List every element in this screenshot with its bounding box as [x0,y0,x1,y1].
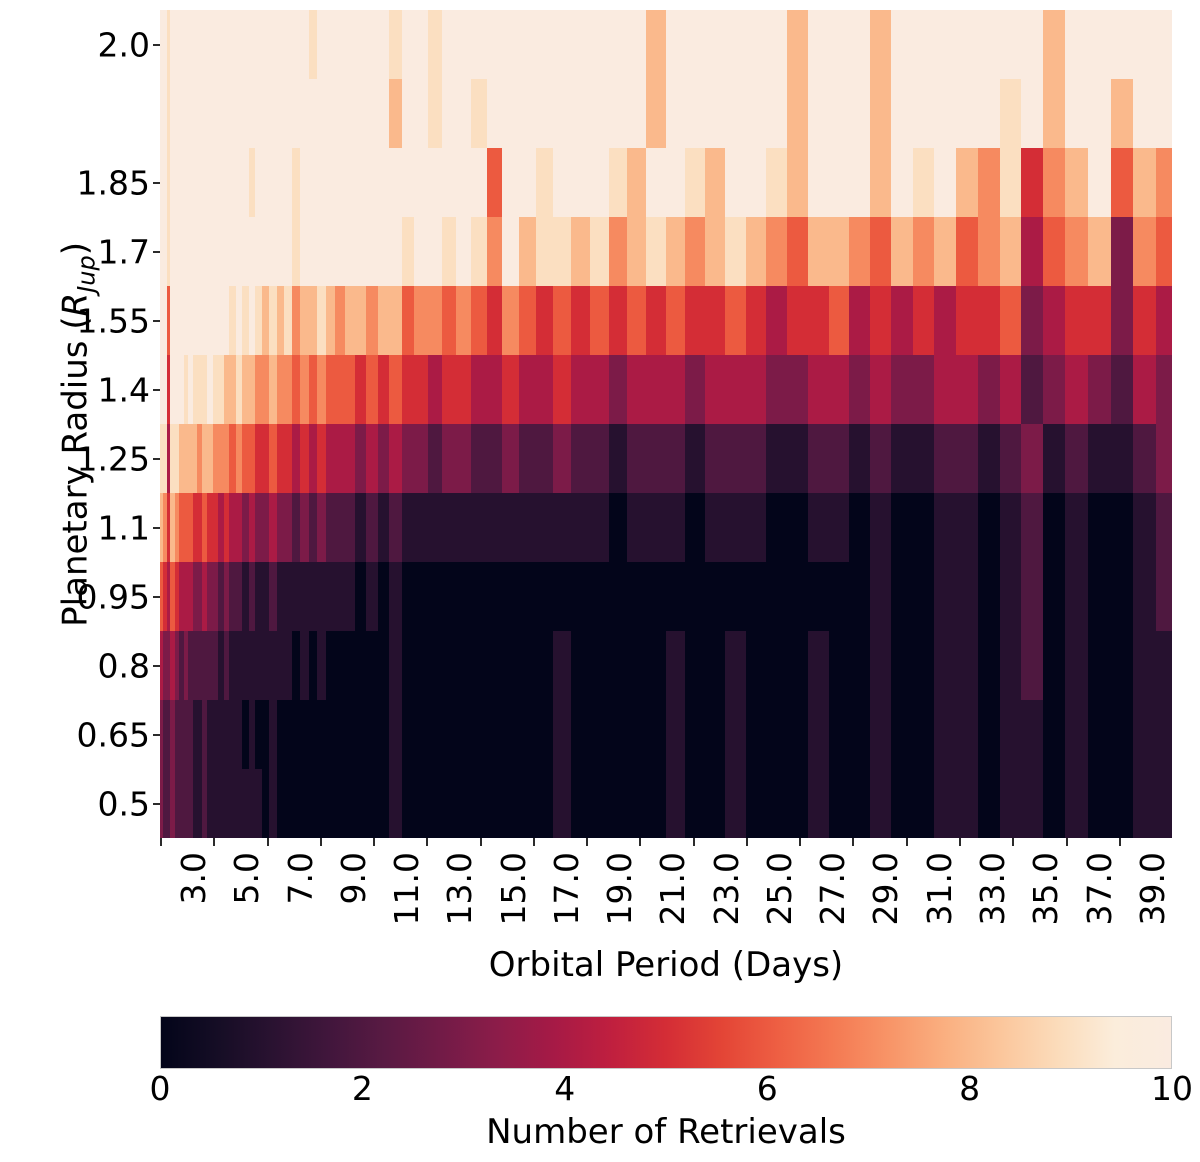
heatmap-cell[interactable] [1065,631,1088,701]
heatmap-cell[interactable] [829,493,850,563]
heatmap-cell[interactable] [571,769,590,838]
heatmap-cell[interactable] [627,769,646,838]
heatmap-cell[interactable] [284,286,292,356]
heatmap-cell[interactable] [536,424,554,494]
heatmap-cell[interactable] [300,217,309,287]
heatmap-cell[interactable] [646,631,666,701]
heatmap-cell[interactable] [1021,355,1043,425]
heatmap-cell[interactable] [808,217,829,287]
heatmap-cell[interactable] [590,79,609,149]
heatmap-cell[interactable] [1065,217,1088,287]
heatmap-cell[interactable] [335,148,345,218]
heatmap-cell[interactable] [536,286,554,356]
heatmap-cell[interactable] [913,424,935,494]
heatmap-cell[interactable] [934,355,956,425]
heatmap-cell[interactable] [1111,79,1134,149]
heatmap-cell[interactable] [326,562,336,632]
heatmap-cell[interactable] [1088,217,1111,287]
heatmap-cell[interactable] [519,355,536,425]
heatmap-cell[interactable] [646,79,666,149]
heatmap-cell[interactable] [487,355,503,425]
heatmap-cell[interactable] [345,700,356,770]
heatmap-cell[interactable] [269,562,277,632]
heatmap-cell[interactable] [1021,10,1043,80]
heatmap-cell[interactable] [519,79,536,149]
heatmap-cell[interactable] [519,286,536,356]
heatmap-cell[interactable] [1088,562,1111,632]
heatmap-cell[interactable] [849,217,870,287]
heatmap-cell[interactable] [627,493,646,563]
heatmap-cell[interactable] [1065,700,1088,770]
heatmap-cell[interactable] [956,286,978,356]
heatmap-cell[interactable] [428,769,442,838]
heatmap-cell[interactable] [471,79,487,149]
heatmap-cell[interactable] [705,79,725,149]
heatmap-cell[interactable] [345,631,356,701]
heatmap-cell[interactable] [705,148,725,218]
heatmap-cell[interactable] [471,562,487,632]
heatmap-cell[interactable] [502,631,519,701]
heatmap-cell[interactable] [705,493,725,563]
heatmap-cell[interactable] [934,217,956,287]
heatmap-cell[interactable] [355,562,366,632]
heatmap-cell[interactable] [1065,424,1088,494]
heatmap-cell[interactable] [402,631,415,701]
heatmap-cell[interactable] [355,286,366,356]
heatmap-cell[interactable] [787,562,808,632]
heatmap-cell[interactable] [934,769,956,838]
heatmap-cell[interactable] [829,217,850,287]
heatmap-cell[interactable] [519,217,536,287]
heatmap-cell[interactable] [1133,700,1156,770]
heatmap-cell[interactable] [536,10,554,80]
heatmap-cell[interactable] [571,10,590,80]
heatmap-cell[interactable] [1088,148,1111,218]
heatmap-cell[interactable] [378,286,390,356]
heatmap-cell[interactable] [646,217,666,287]
heatmap-cell[interactable] [502,79,519,149]
heatmap-cell[interactable] [1156,148,1172,218]
heatmap-cell[interactable] [471,769,487,838]
heatmap-cell[interactable] [571,217,590,287]
heatmap-cell[interactable] [317,424,326,494]
heatmap-cell[interactable] [725,217,746,287]
heatmap-cell[interactable] [746,493,767,563]
heatmap-cell[interactable] [571,631,590,701]
heatmap-cell[interactable] [277,148,285,218]
heatmap-cell[interactable] [1111,631,1134,701]
heatmap-cell[interactable] [456,148,471,218]
heatmap-cell[interactable] [1043,10,1065,80]
heatmap-cell[interactable] [277,769,285,838]
heatmap-cell[interactable] [590,769,609,838]
heatmap-cell[interactable] [590,355,609,425]
heatmap-cell[interactable] [389,562,402,632]
heatmap-cell[interactable] [666,79,686,149]
heatmap-cell[interactable] [1133,424,1156,494]
heatmap-cell[interactable] [1156,79,1172,149]
heatmap-cell[interactable] [891,769,913,838]
heatmap-cell[interactable] [870,562,891,632]
heatmap-cell[interactable] [1088,769,1111,838]
heatmap-cell[interactable] [345,148,356,218]
heatmap-cell[interactable] [787,355,808,425]
heatmap-cell[interactable] [277,217,285,287]
heatmap-cell[interactable] [456,493,471,563]
heatmap-cell[interactable] [978,424,1000,494]
heatmap-cell[interactable] [1088,493,1111,563]
heatmap-cell[interactable] [1133,493,1156,563]
heatmap-cell[interactable] [326,769,336,838]
heatmap-cell[interactable] [317,355,326,425]
heatmap-cell[interactable] [378,769,390,838]
heatmap-cell[interactable] [571,424,590,494]
heatmap-cell[interactable] [891,355,913,425]
heatmap-cell[interactable] [685,493,705,563]
heatmap-cell[interactable] [705,769,725,838]
heatmap-cell[interactable] [571,355,590,425]
heatmap-cell[interactable] [849,631,870,701]
heatmap-cell[interactable] [666,355,686,425]
heatmap-cell[interactable] [1021,562,1043,632]
heatmap-cell[interactable] [978,217,1000,287]
heatmap-cell[interactable] [1000,148,1022,218]
heatmap-cell[interactable] [766,10,787,80]
heatmap-cell[interactable] [609,424,628,494]
heatmap-cell[interactable] [746,424,767,494]
heatmap-cell[interactable] [326,217,336,287]
heatmap-cell[interactable] [456,217,471,287]
heatmap-cell[interactable] [808,79,829,149]
heatmap-cell[interactable] [766,79,787,149]
heatmap-cell[interactable] [536,355,554,425]
heatmap-cell[interactable] [571,79,590,149]
heatmap-cell[interactable] [277,424,285,494]
heatmap-cell[interactable] [978,286,1000,356]
heatmap-cell[interactable] [1043,493,1065,563]
heatmap-cell[interactable] [934,10,956,80]
heatmap-cell[interactable] [829,355,850,425]
heatmap-cell[interactable] [262,355,270,425]
heatmap-cell[interactable] [1111,700,1134,770]
heatmap-cell[interactable] [746,355,767,425]
heatmap-cell[interactable] [292,631,301,701]
heatmap-cell[interactable] [487,79,503,149]
heatmap-cell[interactable] [553,424,571,494]
heatmap-cell[interactable] [1156,493,1172,563]
heatmap-cell[interactable] [366,424,378,494]
heatmap-cell[interactable] [378,217,390,287]
heatmap-cell[interactable] [536,769,554,838]
heatmap-cell[interactable] [553,700,571,770]
heatmap-cell[interactable] [471,355,487,425]
heatmap-cell[interactable] [335,286,345,356]
heatmap-cell[interactable] [705,217,725,287]
heatmap-cell[interactable] [808,286,829,356]
heatmap-cell[interactable] [366,493,378,563]
heatmap-cell[interactable] [685,79,705,149]
heatmap-cell[interactable] [1111,424,1134,494]
heatmap-cell[interactable] [471,10,487,80]
heatmap-cell[interactable] [627,631,646,701]
heatmap-cell[interactable] [1021,148,1043,218]
heatmap-cell[interactable] [536,631,554,701]
heatmap-cell[interactable] [956,217,978,287]
heatmap-cell[interactable] [389,148,402,218]
heatmap-cell[interactable] [1156,700,1172,770]
heatmap-cell[interactable] [1000,424,1022,494]
heatmap-cell[interactable] [262,700,270,770]
heatmap-cell[interactable] [536,562,554,632]
heatmap-cell[interactable] [766,424,787,494]
heatmap-cell[interactable] [787,286,808,356]
heatmap-cell[interactable] [590,631,609,701]
heatmap-cell[interactable] [1133,79,1156,149]
heatmap-cell[interactable] [366,769,378,838]
heatmap-cell[interactable] [1021,700,1043,770]
heatmap-cell[interactable] [1043,217,1065,287]
heatmap-cell[interactable] [471,700,487,770]
heatmap-cell[interactable] [746,769,767,838]
heatmap-cell[interactable] [870,286,891,356]
heatmap-cell[interactable] [402,769,415,838]
heatmap-cell[interactable] [849,562,870,632]
heatmap-cell[interactable] [766,562,787,632]
heatmap-cell[interactable] [870,217,891,287]
heatmap-cell[interactable] [284,562,292,632]
heatmap-cell[interactable] [787,631,808,701]
heatmap-cell[interactable] [300,493,309,563]
heatmap-cell[interactable] [366,700,378,770]
heatmap-cell[interactable] [378,424,390,494]
heatmap-cell[interactable] [487,10,503,80]
heatmap-cell[interactable] [553,631,571,701]
heatmap-cell[interactable] [262,217,270,287]
heatmap-cell[interactable] [787,217,808,287]
heatmap-cell[interactable] [725,700,746,770]
heatmap-cell[interactable] [519,631,536,701]
heatmap-cell[interactable] [913,769,935,838]
heatmap-cell[interactable] [1000,562,1022,632]
heatmap-cell[interactable] [553,769,571,838]
heatmap-cell[interactable] [891,631,913,701]
heatmap-cell[interactable] [355,424,366,494]
heatmap-cell[interactable] [309,631,318,701]
heatmap-cell[interactable] [870,355,891,425]
heatmap-cell[interactable] [609,217,628,287]
heatmap-cell[interactable] [442,355,457,425]
heatmap-cell[interactable] [1088,79,1111,149]
heatmap-cell[interactable] [829,424,850,494]
heatmap-cell[interactable] [277,562,285,632]
heatmap-cell[interactable] [1111,10,1134,80]
heatmap-cell[interactable] [849,493,870,563]
heatmap-cell[interactable] [666,286,686,356]
heatmap-cell[interactable] [262,79,270,149]
heatmap-cell[interactable] [913,10,935,80]
heatmap-cell[interactable] [366,355,378,425]
heatmap-cell[interactable] [389,217,402,287]
heatmap-cell[interactable] [487,631,503,701]
heatmap-cell[interactable] [1065,79,1088,149]
heatmap-cell[interactable] [519,700,536,770]
heatmap-cell[interactable] [292,424,301,494]
heatmap-cell[interactable] [262,562,270,632]
heatmap-cell[interactable] [292,562,301,632]
heatmap-cell[interactable] [442,10,457,80]
heatmap-cell[interactable] [456,424,471,494]
heatmap-cell[interactable] [309,355,318,425]
heatmap-cell[interactable] [262,10,270,80]
heatmap-cell[interactable] [389,355,402,425]
heatmap-cell[interactable] [829,700,850,770]
heatmap-cell[interactable] [891,10,913,80]
heatmap-cell[interactable] [808,355,829,425]
heatmap-cell[interactable] [746,562,767,632]
heatmap-cell[interactable] [519,424,536,494]
heatmap-cell[interactable] [428,10,442,80]
heatmap-cell[interactable] [646,10,666,80]
heatmap-cell[interactable] [284,355,292,425]
heatmap-cell[interactable] [1000,769,1022,838]
heatmap-cell[interactable] [666,493,686,563]
heatmap-cell[interactable] [442,79,457,149]
heatmap-cell[interactable] [378,631,390,701]
heatmap-cell[interactable] [414,286,428,356]
heatmap-cell[interactable] [355,631,366,701]
heatmap-cell[interactable] [317,631,326,701]
heatmap-cell[interactable] [609,148,628,218]
heatmap-cell[interactable] [934,79,956,149]
heatmap-cell[interactable] [849,286,870,356]
heatmap-cell[interactable] [849,769,870,838]
heatmap-cell[interactable] [627,10,646,80]
heatmap-cell[interactable] [553,286,571,356]
heatmap-cell[interactable] [456,562,471,632]
heatmap-cell[interactable] [849,148,870,218]
heatmap-cell[interactable] [414,562,428,632]
heatmap-cell[interactable] [891,562,913,632]
heatmap-cell[interactable] [1065,148,1088,218]
heatmap-cell[interactable] [355,217,366,287]
heatmap-cell[interactable] [269,10,277,80]
heatmap-cell[interactable] [725,493,746,563]
heatmap-cell[interactable] [366,286,378,356]
heatmap-cell[interactable] [934,424,956,494]
heatmap-cell[interactable] [277,355,285,425]
heatmap-cell[interactable] [284,424,292,494]
heatmap-cell[interactable] [1043,631,1065,701]
heatmap-cell[interactable] [766,493,787,563]
heatmap-cell[interactable] [456,79,471,149]
heatmap-cell[interactable] [300,355,309,425]
heatmap-cell[interactable] [891,148,913,218]
heatmap-cell[interactable] [284,148,292,218]
heatmap-cell[interactable] [471,424,487,494]
heatmap-cell[interactable] [414,10,428,80]
heatmap-cell[interactable] [1111,493,1134,563]
heatmap-cell[interactable] [269,286,277,356]
heatmap-cell[interactable] [1156,562,1172,632]
heatmap-cell[interactable] [442,424,457,494]
heatmap-cell[interactable] [978,493,1000,563]
heatmap-cell[interactable] [1000,286,1022,356]
heatmap-cell[interactable] [891,286,913,356]
heatmap-cell[interactable] [934,493,956,563]
heatmap-cell[interactable] [956,10,978,80]
heatmap-cell[interactable] [787,148,808,218]
heatmap-cell[interactable] [590,562,609,632]
heatmap-cell[interactable] [277,493,285,563]
heatmap-cell[interactable] [402,355,415,425]
heatmap-cell[interactable] [502,700,519,770]
heatmap-cell[interactable] [913,79,935,149]
heatmap-cell[interactable] [666,769,686,838]
heatmap-cell[interactable] [1156,769,1172,838]
heatmap-cell[interactable] [666,217,686,287]
heatmap-cell[interactable] [685,10,705,80]
heatmap-cell[interactable] [487,493,503,563]
heatmap-cell[interactable] [402,424,415,494]
heatmap-cell[interactable] [685,700,705,770]
heatmap-cell[interactable] [345,355,356,425]
heatmap-cell[interactable] [978,631,1000,701]
heatmap-cell[interactable] [471,286,487,356]
heatmap-cell[interactable] [1021,769,1043,838]
heatmap-cell[interactable] [366,217,378,287]
heatmap-cell[interactable] [366,562,378,632]
heatmap-cell[interactable] [1021,424,1043,494]
heatmap-cell[interactable] [746,148,767,218]
heatmap-cell[interactable] [414,217,428,287]
heatmap-cell[interactable] [646,424,666,494]
heatmap-cell[interactable] [502,424,519,494]
heatmap-cell[interactable] [766,769,787,838]
heatmap-cell[interactable] [590,493,609,563]
heatmap-cell[interactable] [1021,631,1043,701]
heatmap-cell[interactable] [300,424,309,494]
heatmap-cell[interactable] [536,79,554,149]
heatmap-cell[interactable] [934,148,956,218]
heatmap-cell[interactable] [326,355,336,425]
heatmap-cell[interactable] [725,148,746,218]
heatmap-cell[interactable] [300,700,309,770]
heatmap-cell[interactable] [284,217,292,287]
heatmap-cell[interactable] [428,493,442,563]
heatmap-cell[interactable] [1133,562,1156,632]
heatmap-cell[interactable] [471,631,487,701]
heatmap-cell[interactable] [609,79,628,149]
heatmap-cell[interactable] [627,148,646,218]
heatmap-cell[interactable] [366,79,378,149]
heatmap-cell[interactable] [1043,148,1065,218]
heatmap-cell[interactable] [378,700,390,770]
heatmap-cell[interactable] [277,79,285,149]
heatmap-cell[interactable] [646,493,666,563]
heatmap-cell[interactable] [1065,355,1088,425]
heatmap-cell[interactable] [705,562,725,632]
heatmap-cell[interactable] [609,10,628,80]
heatmap-cell[interactable] [1111,217,1134,287]
heatmap-cell[interactable] [870,148,891,218]
heatmap-cell[interactable] [787,10,808,80]
heatmap-cell[interactable] [808,631,829,701]
heatmap-cell[interactable] [891,700,913,770]
heatmap-plot-area[interactable] [160,10,1172,838]
heatmap-cell[interactable] [317,769,326,838]
heatmap-cell[interactable] [326,148,336,218]
heatmap-cell[interactable] [292,217,301,287]
